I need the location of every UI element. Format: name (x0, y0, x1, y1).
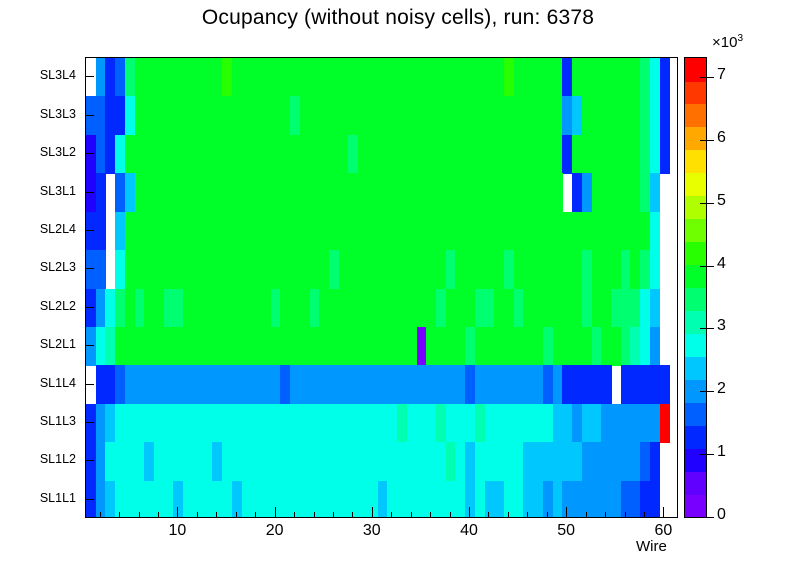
x-axis-tick (605, 512, 606, 518)
x-axis-tick (547, 512, 548, 518)
heatmap-cells (86, 58, 677, 517)
x-axis-tick-label: 50 (548, 522, 584, 540)
x-axis-tick (139, 512, 140, 518)
y-axis-label: SL2L3 (14, 261, 76, 273)
x-axis-tick (430, 512, 431, 518)
multiplier-exponent: 3 (737, 33, 743, 44)
heatmap-cell (96, 250, 106, 289)
color-bar-tick (700, 328, 714, 329)
x-axis-tick (294, 512, 295, 518)
color-bar-segment (685, 310, 706, 334)
page-title: Ocupancy (without noisy cells), run: 637… (0, 6, 796, 30)
x-axis-tick (508, 512, 509, 518)
color-bar-tick (700, 454, 714, 455)
color-bar-tick-label: 2 (717, 380, 726, 398)
x-axis-tick-label: 40 (451, 522, 487, 540)
x-axis-tick (586, 512, 587, 518)
x-axis-tick-label: 10 (159, 522, 195, 540)
x-axis-tick (527, 512, 528, 518)
color-bar-segment (685, 150, 706, 174)
y-axis-label: SL2L4 (14, 223, 76, 235)
color-bar[interactable] (684, 57, 707, 518)
heatmap-cell (650, 250, 660, 289)
color-bar-segment (685, 219, 706, 243)
x-axis-tick (216, 512, 217, 518)
color-bar-segment (685, 333, 706, 357)
color-bar-tick (700, 77, 714, 78)
x-axis-tick (566, 507, 567, 518)
x-axis-tick (488, 512, 489, 518)
heatmap-cell (660, 404, 670, 443)
color-bar-segment (685, 127, 706, 151)
y-axis-tick (85, 115, 94, 116)
x-axis-tick (236, 512, 237, 518)
color-bar-tick (700, 391, 714, 392)
heatmap-cell (650, 327, 660, 366)
x-axis-tick (372, 507, 373, 518)
color-bar-tick-label: 7 (717, 66, 726, 84)
x-axis-tick (391, 512, 392, 518)
heatmap-cell (660, 135, 670, 174)
y-axis-tick (85, 460, 94, 461)
y-axis-tick (85, 384, 94, 385)
heatmap-frame[interactable] (85, 57, 678, 518)
color-bar-tick (700, 266, 714, 267)
color-bar-segment (685, 173, 706, 197)
x-axis-tick-label: 20 (257, 522, 293, 540)
y-axis-tick (85, 153, 94, 154)
heatmap-cell (660, 58, 670, 97)
y-axis-label: SL1L4 (14, 377, 76, 389)
color-bar-tick-label: 1 (717, 443, 726, 461)
heatmap-cell (650, 289, 660, 328)
heatmap-cell (660, 365, 670, 404)
x-axis-tick (197, 512, 198, 518)
color-bar-tick (700, 140, 714, 141)
heatmap-cell (650, 481, 660, 518)
y-axis-label: SL1L2 (14, 453, 76, 465)
x-axis-tick (177, 507, 178, 518)
y-axis-label: SL3L4 (14, 69, 76, 81)
x-axis-tick-label: 30 (354, 522, 390, 540)
multiplier-base: ×10 (712, 34, 737, 51)
y-axis-tick (85, 76, 94, 77)
color-bar-segment (685, 425, 706, 449)
y-axis-tick (85, 499, 94, 500)
y-axis-label: SL2L1 (14, 338, 76, 350)
x-axis-tick (411, 512, 412, 518)
y-axis-label: SL2L2 (14, 300, 76, 312)
color-bar-tick (700, 517, 714, 518)
x-axis-tick (352, 512, 353, 518)
y-axis-label: SL3L2 (14, 146, 76, 158)
color-bar-segment (685, 494, 706, 518)
heatmap-cell (96, 212, 106, 251)
y-axis-tick (85, 268, 94, 269)
color-bar-segment (685, 265, 706, 289)
x-axis-tick (644, 512, 645, 518)
color-bar-segment (685, 58, 706, 82)
color-bar-segment (685, 356, 706, 380)
y-axis-label: SL3L3 (14, 108, 76, 120)
x-axis-tick (314, 512, 315, 518)
y-axis-tick (85, 422, 94, 423)
color-bar-segment (685, 402, 706, 426)
y-axis-tick (85, 307, 94, 308)
plot-canvas: Ocupancy (without noisy cells), run: 637… (0, 0, 796, 572)
color-bar-tick-label: 0 (717, 506, 726, 524)
color-bar-multiplier: ×103 (712, 33, 743, 51)
color-bar-tick-label: 6 (717, 129, 726, 147)
x-axis-tick (333, 512, 334, 518)
x-axis-tick (119, 512, 120, 518)
color-bar-segment (685, 288, 706, 312)
x-axis-tick (450, 512, 451, 518)
y-axis-tick (85, 230, 94, 231)
color-bar-segment (685, 448, 706, 472)
heatmap-cell (96, 173, 106, 212)
x-axis-tick (275, 507, 276, 518)
x-axis-tick (100, 512, 101, 518)
color-bar-tick (700, 203, 714, 204)
heatmap-cell (660, 96, 670, 135)
x-axis-tick (625, 512, 626, 518)
x-axis-tick (663, 507, 664, 518)
color-bar-segment (685, 242, 706, 266)
color-bar-segment (685, 104, 706, 128)
color-bar-tick-label: 5 (717, 192, 726, 210)
color-bar-segment (685, 81, 706, 105)
heatmap-cell (650, 442, 660, 481)
y-axis-tick (85, 192, 94, 193)
y-axis-label: SL1L3 (14, 415, 76, 427)
color-bar-tick-label: 3 (717, 317, 726, 335)
heatmap-cell (650, 212, 660, 251)
y-axis-label: SL3L1 (14, 185, 76, 197)
heatmap-cell (650, 173, 660, 212)
heatmap-cell (601, 365, 611, 404)
color-bar-segment (685, 471, 706, 495)
y-axis-tick (85, 345, 94, 346)
color-bar-segment (685, 196, 706, 220)
y-axis-label: SL1L1 (14, 492, 76, 504)
x-axis-title: Wire (636, 538, 667, 555)
color-bar-tick-label: 4 (717, 255, 726, 273)
x-axis-tick (158, 512, 159, 518)
x-axis-tick (469, 507, 470, 518)
heatmap-cell (553, 173, 563, 212)
x-axis-tick (255, 512, 256, 518)
